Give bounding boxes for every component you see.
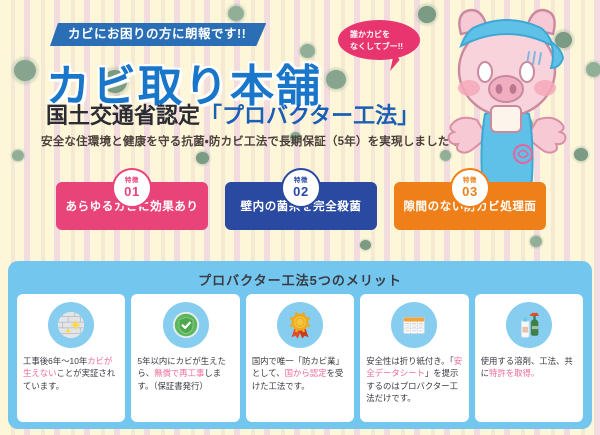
feature-badge-02: 特徴 02 <box>281 168 321 208</box>
feature-box-01[interactable]: 特徴 01 あらゆるカビに効果あり <box>56 182 208 230</box>
feature-badge-number-03: 03 <box>462 185 478 198</box>
merits-title: プロバクター工法5つのメリット <box>8 270 592 289</box>
feature-badge-03: 特徴 03 <box>450 168 490 208</box>
document-table-icon <box>391 302 437 348</box>
merit-card-text: 国内で唯一「防カビ業」として、国から認定を受けた工法です。 <box>252 355 348 392</box>
merit-cards-row: 工事後6年～10年カビが生えないことが実証されています。 5年以内にカビが生えた… <box>17 294 583 422</box>
merit-card[interactable]: 使用する溶剤、工法、共に特許を取得。 <box>475 294 583 422</box>
subtitle: 国土交通省認定「プロバクター工法」 <box>46 98 419 130</box>
merit-card-text: 使用する溶剤、工法、共に特許を取得。 <box>481 355 577 380</box>
gold-award-rosette-icon <box>277 302 323 348</box>
speech-bubble-line-1: 誰かカビを <box>350 30 390 39</box>
merit-text-highlight: 特許を取得。 <box>489 368 539 378</box>
feature-box-02[interactable]: 特徴 02 壁内の菌糸を完全殺菌 <box>225 182 377 230</box>
feature-badge-01: 特徴 01 <box>112 168 152 208</box>
merit-card[interactable]: 安全性は折り紙付き。「安全データシート」を提示するのはプロバクター工法だけです。 <box>360 294 468 422</box>
merits-panel: プロバクター工法5つのメリット <box>8 261 592 429</box>
merit-card-text: 安全性は折り紙付き。「安全データシート」を提示するのはプロバクター工法だけです。 <box>366 355 462 405</box>
feature-badges-row: 特徴 01 あらゆるカビに効果あり 特徴 02 壁内の菌糸を完全殺菌 特徴 03… <box>0 168 600 240</box>
speech-bubble-line-2: なくしてブー!! <box>350 42 403 51</box>
subtitle-method-name: 「プロバクター工法」 <box>200 103 419 128</box>
merit-card-text: 5年以内にカビが生えたら、無償で再工事します。（保証書発行） <box>137 355 233 392</box>
speech-bubble-tail <box>390 52 401 72</box>
spray-bottles-icon <box>506 302 552 348</box>
merit-text-part: 安全性は折り紙付き。「 <box>366 356 454 366</box>
green-shield-check-icon <box>163 302 209 348</box>
speech-bubble: 誰かカビを なくしてブー!! <box>338 20 420 60</box>
merit-text-highlight: 無償で再工事 <box>154 368 204 378</box>
speech-bubble-text: 誰かカビを なくしてブー!! <box>350 29 403 53</box>
lead-description: 安全な住環境と健康を守る抗菌・防カビ工法で長期保証（5年）を実現しました！ <box>41 133 461 149</box>
merit-card[interactable]: 5年以内にカビが生えたら、無償で再工事します。（保証書発行） <box>131 294 239 422</box>
header-ribbon-banner: カビにお困りの方に朗報です!! <box>50 23 266 46</box>
merit-card-text: 工事後6年～10年カビが生えないことが実証されています。 <box>23 355 119 392</box>
feature-badge-number-02: 02 <box>293 185 309 198</box>
feature-box-03[interactable]: 特徴 03 隙間のない防カビ処理面 <box>394 182 546 230</box>
merit-card[interactable]: 国内で唯一「防カビ業」として、国から認定を受けた工法です。 <box>246 294 354 422</box>
merit-text-part: 工事後6年～10年 <box>23 356 87 366</box>
brick-wall-sparkle-icon <box>48 302 94 348</box>
subtitle-certification: 国土交通省認定 <box>46 103 200 128</box>
feature-badge-number-01: 01 <box>124 185 140 198</box>
merit-card[interactable]: 工事後6年～10年カビが生えないことが実証されています。 <box>17 294 125 422</box>
merit-text-highlight: 国から認定 <box>285 368 327 378</box>
page-root: カビにお困りの方に朗報です!! カビ取り本舗 国土交通省認定「プロバクター工法」… <box>0 0 600 435</box>
